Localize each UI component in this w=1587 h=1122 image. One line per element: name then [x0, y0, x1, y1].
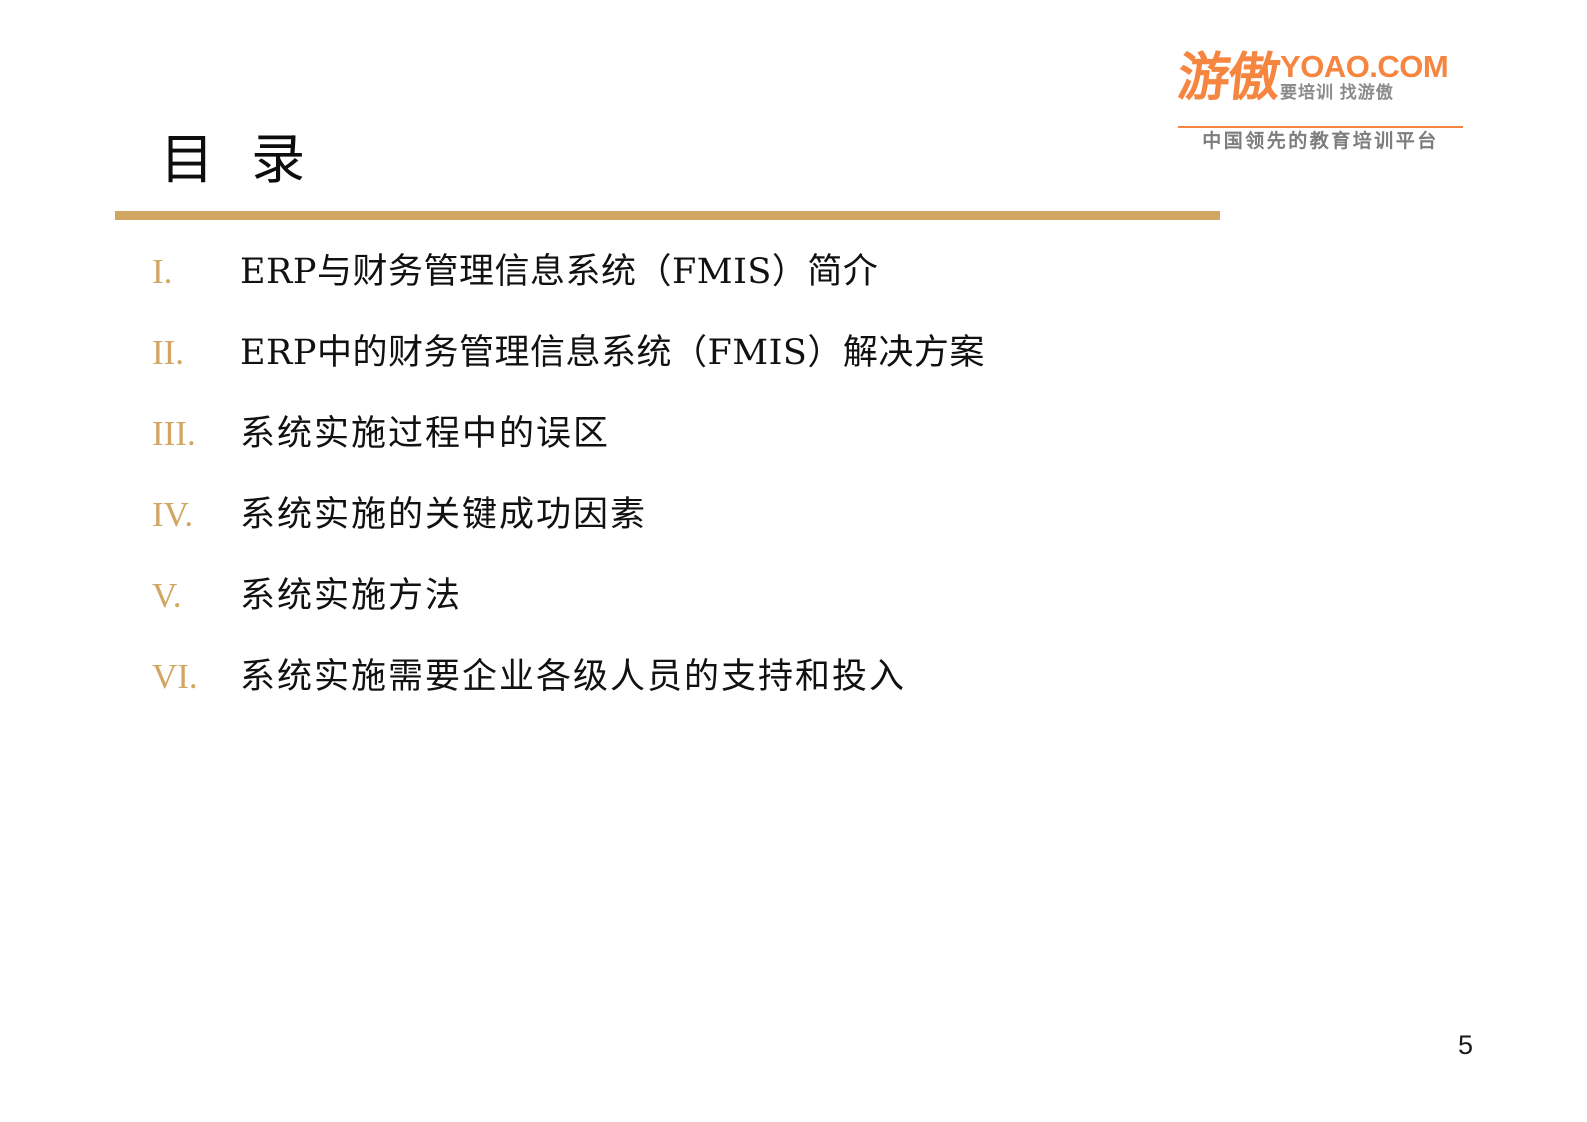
page-title: 目 录 — [160, 128, 315, 192]
yoao-logo: 游傲 YOAO.COM 要培训 找游傲 中国领先的教育培训平台 — [1178, 48, 1463, 148]
toc-numeral: V. — [152, 576, 240, 616]
toc-numeral: IV. — [152, 495, 240, 535]
toc-label: 系统实施过程中的误区 — [240, 414, 610, 454]
toc-item-5[interactable]: V. 系统实施方法 — [152, 576, 1432, 657]
page-number: 5 — [1458, 1030, 1473, 1060]
toc-item-2[interactable]: II. ERP中的财务管理信息系统（FMIS）解决方案 — [152, 333, 1432, 414]
toc-label: 系统实施方法 — [240, 576, 462, 616]
logo-slogan: 要培训 找游傲 — [1280, 83, 1448, 103]
toc-item-6[interactable]: VI. 系统实施需要企业各级人员的支持和投入 — [152, 657, 1432, 738]
toc-item-3[interactable]: III. 系统实施过程中的误区 — [152, 414, 1432, 495]
toc-numeral: I. — [152, 252, 240, 292]
toc-label: ERP中的财务管理信息系统（FMIS）解决方案 — [240, 333, 985, 373]
toc-label: ERP与财务管理信息系统（FMIS）简介 — [240, 252, 878, 292]
toc-numeral: VI. — [152, 657, 240, 697]
toc-item-1[interactable]: I. ERP与财务管理信息系统（FMIS）简介 — [152, 252, 1432, 333]
toc-numeral: II. — [152, 333, 240, 373]
toc-label: 系统实施需要企业各级人员的支持和投入 — [240, 657, 906, 697]
slide-canvas: 游傲 YOAO.COM 要培训 找游傲 中国领先的教育培训平台 目 录 I. E… — [0, 0, 1587, 1122]
table-of-contents: I. ERP与财务管理信息系统（FMIS）简介 II. ERP中的财务管理信息系… — [152, 252, 1432, 738]
logo-tagline: 中国领先的教育培训平台 — [1178, 130, 1463, 154]
logo-primary-row: 游傲 YOAO.COM 要培训 找游傲 — [1178, 48, 1463, 104]
toc-numeral: III. — [152, 414, 240, 454]
logo-brand-cn: 游傲 — [1175, 52, 1280, 104]
logo-divider — [1178, 126, 1463, 128]
toc-label: 系统实施的关键成功因素 — [240, 495, 647, 535]
logo-domain: YOAO.COM — [1280, 51, 1448, 82]
logo-text-block: YOAO.COM 要培训 找游傲 — [1280, 51, 1448, 103]
title-underline-rule — [115, 211, 1220, 220]
toc-item-4[interactable]: IV. 系统实施的关键成功因素 — [152, 495, 1432, 576]
